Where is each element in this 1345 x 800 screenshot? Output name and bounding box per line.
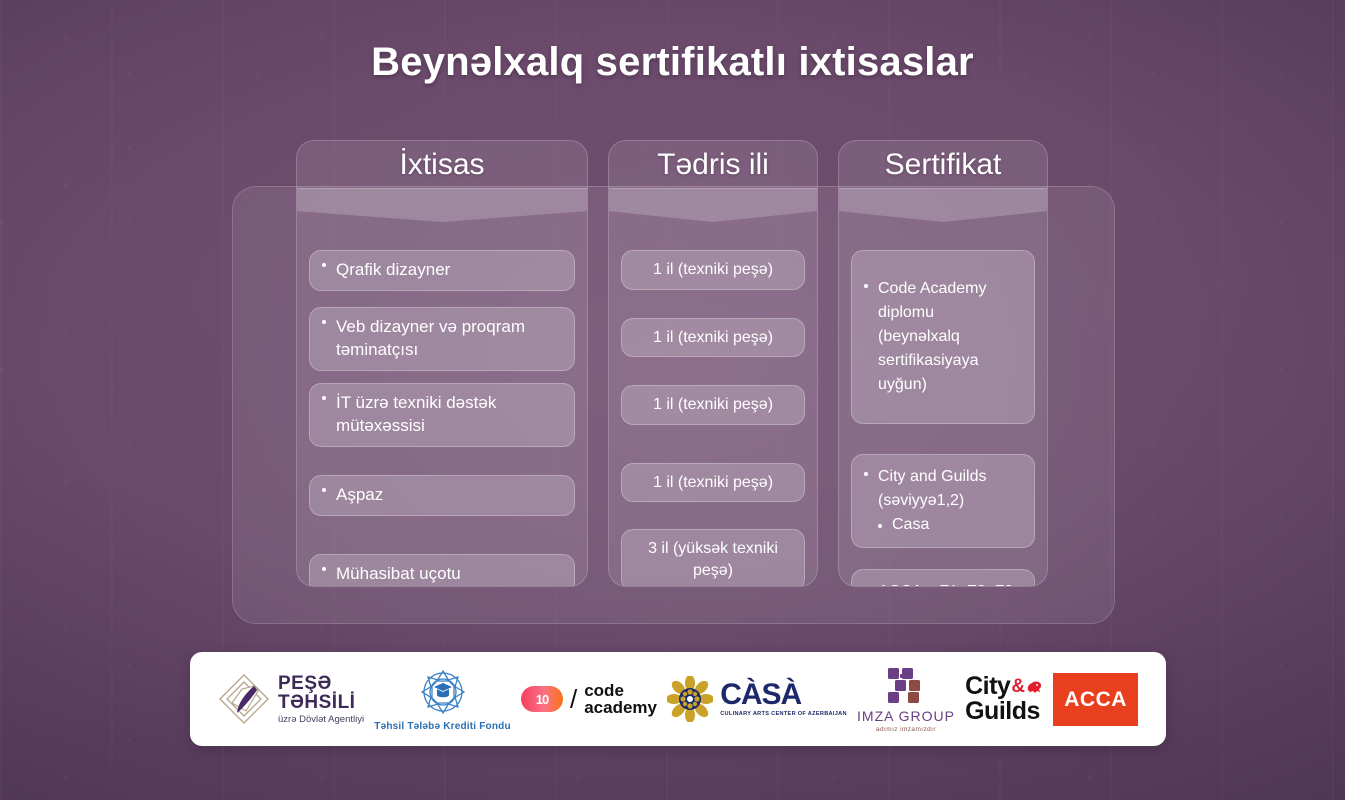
logo-text: PEŞƏ TƏHSİLİ üzrə Dövlət Agentliyi [278, 674, 364, 725]
logo-caption: Təhsil Tələbə Krediti Fondu [374, 721, 511, 732]
list-item[interactable]: Qrafik dizayner [309, 250, 575, 291]
page-title: Beynəlxalq sertifikatlı ixtisaslar [0, 40, 1345, 85]
bullet-icon [864, 472, 868, 476]
column-items: 1 il (texniki peşə) 1 il (texniki peşə) … [609, 222, 817, 587]
list-item[interactable]: 3 il (yüksək texniki peşə) [621, 529, 805, 587]
list-item[interactable]: City and Guilds (səviyyə1,2) Casa [851, 454, 1035, 548]
logo-text: code academy [584, 682, 657, 717]
column-items: Qrafik dizayner Veb dizayner və proqram … [297, 222, 587, 587]
bullet-icon [322, 320, 326, 324]
column-ixtisas: İxtisas Qrafik dizayner Veb dizayner və … [296, 140, 588, 587]
list-item[interactable]: Mühasibat uçotu [309, 554, 575, 587]
column-header-ixtisas: İxtisas [297, 141, 587, 188]
list-item-label: İT üzrə texniki dəstək mütəxəssisi [336, 392, 560, 438]
bullet-icon [322, 488, 326, 492]
list-item[interactable]: İT üzrə texniki dəstək mütəxəssisi [309, 383, 575, 447]
logo-name: IMZA GROUP [857, 708, 955, 724]
partner-logo-bar: PEŞƏ TƏHSİLİ üzrə Dövlət Agentliyi [190, 652, 1166, 746]
puzzle-icon [884, 666, 928, 706]
logo-code-academy[interactable]: 10 / code academy [521, 682, 657, 717]
logo-row-1: City & [965, 674, 1043, 699]
list-item-sublabel-wrap: Casa [878, 516, 929, 533]
list-item-label: 1 il (texniki peşə) [632, 327, 794, 349]
logo-acca[interactable]: ACCA [1053, 673, 1138, 726]
logo-line1: PEŞƏ [278, 674, 364, 693]
list-item-label: Qrafik dizayner [336, 259, 560, 282]
chevron-divider-icon [297, 188, 587, 222]
logo-tagline: adımız imzamızdır [876, 726, 936, 733]
chevron-divider-icon [609, 188, 817, 222]
list-item-sublabel: Casa [892, 516, 929, 533]
logo-line3: üzrə Dövlət Agentliyi [278, 715, 364, 725]
list-item-label: Veb dizayner və proqram təminatçısı [336, 316, 560, 362]
logo-pese-tehsili[interactable]: PEŞƏ TƏHSİLİ üzrə Dövlət Agentliyi [218, 673, 364, 725]
column-body: Tədris ili 1 il (texniki peşə) 1 il (tex… [608, 140, 818, 587]
logo-name: CÀSÀ [720, 680, 847, 710]
bullet-icon [322, 396, 326, 400]
list-item[interactable]: 1 il (texniki peşə) [621, 318, 805, 358]
logo-casa[interactable]: CÀSÀ CULINARY ARTS CENTER OF AZERBAIJAN [667, 676, 847, 722]
bullet-icon [322, 567, 326, 571]
list-item-label: 3 il (yüksək texniki peşə) [632, 538, 794, 581]
list-item-label: 1 il (texniki peşə) [632, 259, 794, 281]
column-body: İxtisas Qrafik dizayner Veb dizayner və … [296, 140, 588, 587]
list-item-label: 1 il (texniki peşə) [632, 394, 794, 416]
logo-tehsil-telebe-krediti-fondu[interactable]: Təhsil Tələbə Krediti Fondu [374, 667, 511, 732]
book-diamond-icon [218, 673, 270, 725]
logo-line1: City [965, 674, 1010, 699]
list-item-label: Aşpaz [336, 484, 560, 507]
column-items: Code Academy diplomu (beynəlxalq sertifi… [839, 222, 1047, 587]
list-item[interactable]: Aşpaz [309, 475, 575, 516]
column-header-tedris-ili: Tədris ili [609, 141, 817, 188]
list-item[interactable]: Veb dizayner və proqram təminatçısı [309, 307, 575, 371]
logo-imza-group[interactable]: IMZA GROUP adımız imzamızdır [857, 666, 955, 733]
list-item-label: 1 il (texniki peşə) [632, 472, 794, 494]
logo-city-and-guilds[interactable]: City & Guilds [965, 674, 1043, 724]
column-sertifikat: Sertifikat Code Academy diplomu (beynəlx… [838, 140, 1048, 587]
list-item-label: Mühasibat uçotu [336, 563, 560, 586]
logo-line2: TƏHSİLİ [278, 693, 364, 712]
slash-separator: / [570, 684, 577, 715]
list-item[interactable]: 1 il (texniki peşə) [621, 385, 805, 425]
ten-years-badge-icon: 10 [521, 686, 563, 712]
list-item-label: City and Guilds (səviyyə1,2) [878, 465, 1020, 513]
logo-line2: academy [584, 699, 657, 716]
bullet-icon [878, 524, 882, 528]
list-item-label: ACCA – F1, F2, F3 [878, 580, 1020, 587]
column-body: Sertifikat Code Academy diplomu (beynəlx… [838, 140, 1048, 587]
list-item-label: Code Academy diplomu (beynəlxalq sertifi… [878, 277, 1020, 397]
list-item[interactable]: Code Academy diplomu (beynəlxalq sertifi… [851, 250, 1035, 424]
column-header-sertifikat: Sertifikat [839, 141, 1047, 188]
logo-line1: code [584, 682, 657, 699]
column-tedris-ili: Tədris ili 1 il (texniki peşə) 1 il (tex… [608, 140, 818, 587]
rosette-icon [667, 676, 713, 722]
list-item[interactable]: 1 il (texniki peşə) [621, 250, 805, 290]
bullet-icon [322, 263, 326, 267]
logo-text: CÀSÀ CULINARY ARTS CENTER OF AZERBAIJAN [720, 680, 847, 718]
lion-icon [1026, 679, 1043, 694]
chevron-divider-icon [839, 188, 1047, 222]
ampersand-glyph: & [1011, 677, 1025, 696]
list-item[interactable]: 1 il (texniki peşə) [621, 463, 805, 503]
list-item[interactable]: ACCA – F1, F2, F3 [851, 569, 1035, 587]
bullet-icon [864, 284, 868, 288]
logo-tagline: CULINARY ARTS CENTER OF AZERBAIJAN [720, 712, 847, 718]
logo-name: ACCA [1053, 673, 1138, 726]
graduation-rosette-icon [418, 667, 468, 717]
logo-line2: Guilds [965, 699, 1040, 724]
